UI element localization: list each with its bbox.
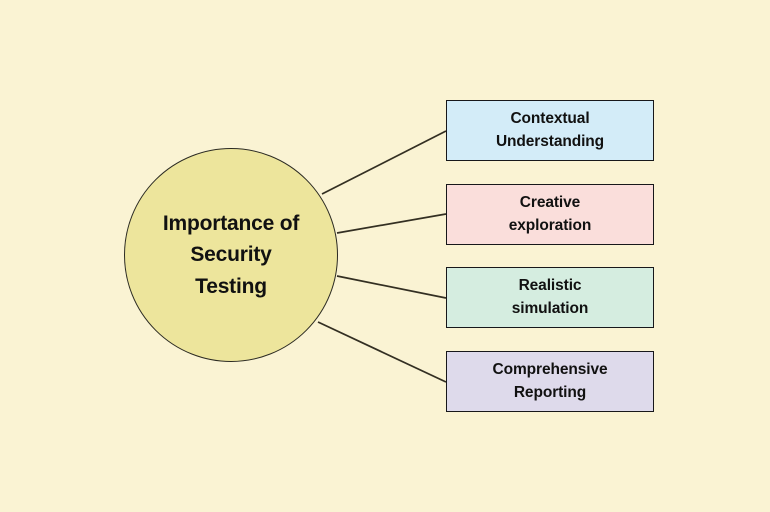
- leaf-node-label: Comprehensive Reporting: [493, 359, 608, 405]
- leaf-node-comprehensive-reporting[interactable]: Comprehensive Reporting: [446, 351, 654, 412]
- connector-line-comprehensive-reporting: [318, 322, 446, 382]
- leaf-node-creative-exploration[interactable]: Creative exploration: [446, 184, 654, 245]
- connector-line-realistic-simulation: [337, 276, 446, 298]
- center-node-importance-of-security-testing[interactable]: Importance of Security Testing: [124, 148, 338, 362]
- connector-layer: [0, 0, 770, 512]
- leaf-node-label: Creative exploration: [509, 192, 591, 238]
- leaf-node-label: Contextual Understanding: [496, 108, 604, 154]
- leaf-node-contextual-understanding[interactable]: Contextual Understanding: [446, 100, 654, 161]
- leaf-node-label: Realistic simulation: [512, 275, 589, 321]
- leaf-node-realistic-simulation[interactable]: Realistic simulation: [446, 267, 654, 328]
- connector-line-contextual-understanding: [322, 131, 446, 194]
- center-node-label: Importance of Security Testing: [149, 208, 313, 301]
- mind-map-diagram: Importance of Security Testing Contextua…: [0, 0, 770, 512]
- connector-line-creative-exploration: [337, 214, 446, 233]
